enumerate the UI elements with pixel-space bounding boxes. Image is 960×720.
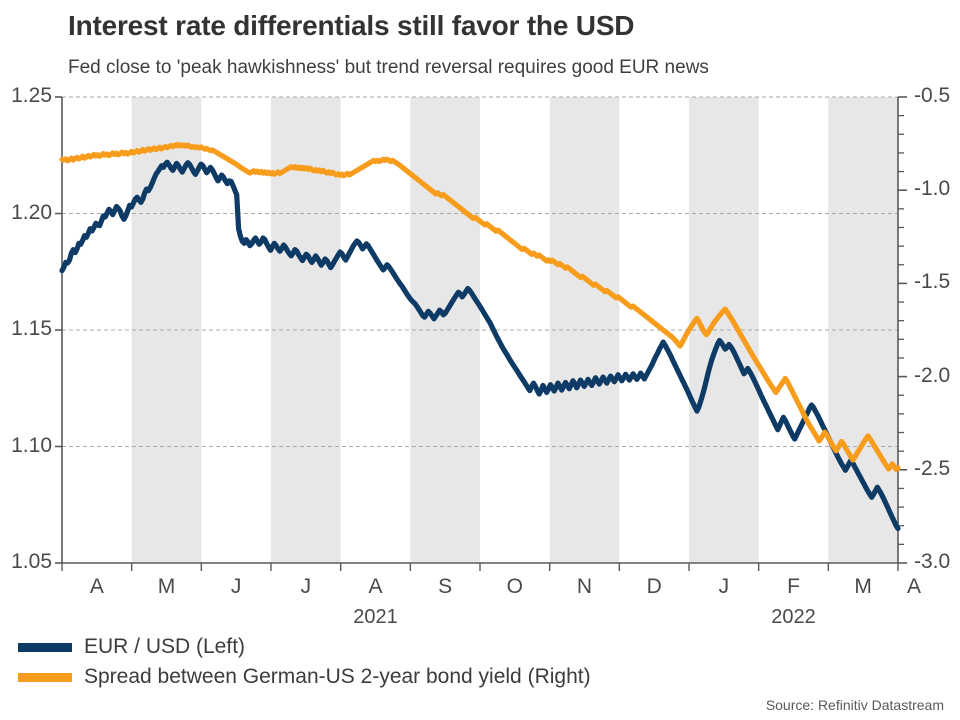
y-axis-right-tick-label: -2.5	[914, 457, 960, 481]
legend-swatch-eurusd	[18, 643, 72, 652]
x-axis-tick-label: M	[147, 575, 187, 599]
legend-swatch-spread	[18, 673, 72, 682]
x-axis-tick-label: S	[425, 575, 465, 599]
x-axis-tick-label: F	[774, 575, 814, 599]
x-axis-tick-label: J	[216, 575, 256, 599]
legend-label-spread: Spread between German-US 2-year bond yie…	[84, 665, 591, 689]
x-axis-tick-label: J	[286, 575, 326, 599]
y-axis-right-tick-label: -0.5	[914, 84, 960, 108]
x-axis-tick-label: N	[565, 575, 605, 599]
plot-area	[0, 0, 960, 640]
y-axis-left-tick-label: 1.25	[0, 84, 52, 108]
y-axis-left-tick-label: 1.15	[0, 317, 52, 341]
x-axis-year-label: 2021	[341, 606, 411, 629]
y-axis-right-tick-label: -1.0	[914, 177, 960, 201]
x-axis-tick-label: D	[634, 575, 674, 599]
x-axis-tick-label: A	[77, 575, 117, 599]
y-axis-right-tick-label: -2.0	[914, 364, 960, 388]
y-axis-left-tick-label: 1.05	[0, 550, 52, 574]
source-note: Source: Refinitiv Datastream	[766, 697, 944, 713]
chart-container: Interest rate differentials still favor …	[0, 0, 960, 720]
legend-item-eurusd: EUR / USD (Left)	[18, 632, 591, 662]
y-axis-right-tick-label: -3.0	[914, 550, 960, 574]
x-axis-tick-label: O	[495, 575, 535, 599]
y-axis-left-tick-label: 1.20	[0, 201, 52, 225]
x-axis-tick-label: A	[356, 575, 396, 599]
x-axis-tick-label: J	[704, 575, 744, 599]
x-axis-tick-label: A	[894, 575, 934, 599]
legend-item-spread: Spread between German-US 2-year bond yie…	[18, 662, 591, 692]
chart-legend: EUR / USD (Left) Spread between German-U…	[18, 632, 591, 692]
x-axis-year-label: 2022	[759, 606, 829, 629]
legend-label-eurusd: EUR / USD (Left)	[84, 635, 245, 659]
x-axis-tick-label: M	[843, 575, 883, 599]
y-axis-right-tick-label: -1.5	[914, 270, 960, 294]
y-axis-left-tick-label: 1.10	[0, 434, 52, 458]
